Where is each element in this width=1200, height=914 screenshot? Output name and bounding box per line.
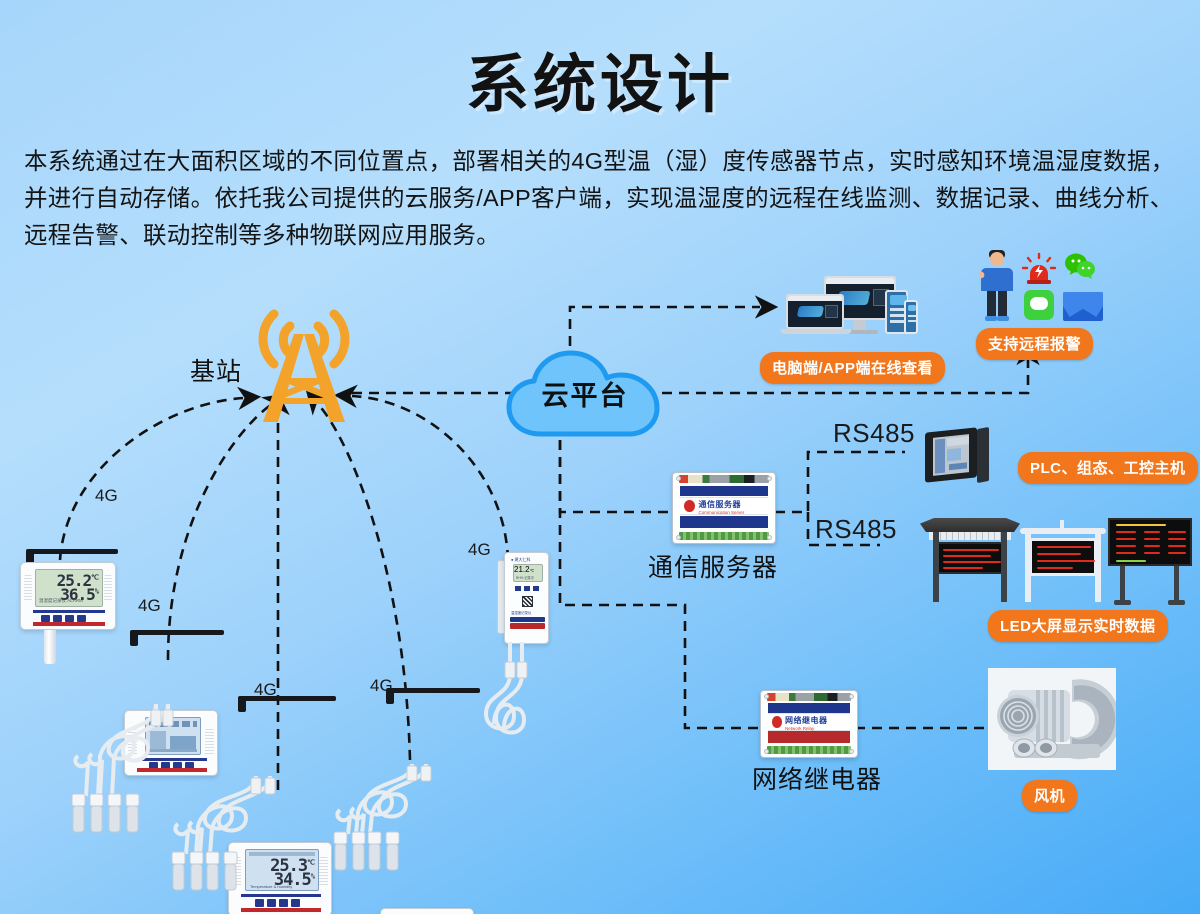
cloud-platform-label: 云平台: [505, 374, 665, 413]
link-label-4g-5: 4G: [468, 540, 491, 560]
badge-fan[interactable]: 风机: [1022, 780, 1077, 812]
sensor-a-antenna: [28, 549, 118, 554]
badge-plc[interactable]: PLC、组态、工控主机: [1018, 452, 1198, 484]
plc-hmi-device: [925, 428, 993, 484]
sensor-b-antenna-base: [130, 630, 138, 646]
page-title: 系统设计: [0, 34, 1200, 125]
sensor-a-probe: [44, 630, 56, 664]
mail-icon: [1063, 292, 1103, 321]
comm-server-label: 通信服务器: [648, 548, 778, 584]
qr-code-icon: [522, 596, 533, 607]
sensor-e-temp: 21.2℃: [514, 565, 542, 574]
sensor-d: 25.3℃ 34.5%: [380, 908, 474, 914]
sensor-e: ● 建大仁科 21.2℃ RH% 记录中 温湿度记录仪: [497, 552, 549, 652]
sms-icon: [1024, 290, 1054, 320]
link-label-4g-4: 4G: [370, 676, 393, 696]
led-billboard-monitor: [1108, 518, 1192, 606]
cloud-platform[interactable]: 云平台: [505, 348, 665, 440]
base-station-label: 基站: [190, 352, 242, 388]
sensor-e-probe-cables: [480, 640, 570, 770]
sensor-d-antenna: [388, 688, 480, 693]
sensor-b-antenna: [132, 630, 224, 635]
sensor-a: 25.2℃ 36.5% 温湿度记录仪 ALARM: [20, 562, 116, 630]
rs485-label-1: RS485: [833, 418, 915, 449]
link-label-4g-1: 4G: [95, 486, 118, 506]
sensor-c-antenna-base: [238, 696, 246, 712]
remote-alarm-group: [975, 248, 1095, 328]
communication-server-device: 通信服务器Communication Server: [672, 472, 776, 544]
siren-icon: [1021, 252, 1055, 282]
network-relay-label: 网络继电器: [752, 760, 882, 796]
wechat-icon: [1065, 252, 1095, 285]
sensor-c-probe-cables: [148, 772, 328, 902]
sensor-d-probe-cables: [316, 760, 486, 880]
led-billboard-pavilion: [920, 518, 1020, 604]
link-label-4g-3: 4G: [254, 680, 277, 700]
rs485-label-2: RS485: [815, 514, 897, 545]
led-billboard-frame: [1020, 520, 1106, 604]
network-relay-device: 网络继电器Network Relay: [760, 690, 858, 758]
base-station-tower: [244, 300, 364, 425]
badge-pc-app[interactable]: 电脑端/APP端在线查看: [760, 352, 945, 384]
fan-device: [988, 668, 1116, 770]
intro-paragraph: 本系统通过在大面积区域的不同位置点，部署相关的4G型温（湿）度传感器节点，实时感…: [24, 143, 1182, 254]
pc-app-devices: [786, 276, 916, 340]
badge-remote-alarm[interactable]: 支持远程报警: [976, 328, 1093, 360]
diagram-canvas: 系统设计 本系统通过在大面积区域的不同位置点，部署相关的4G型温（湿）度传感器节…: [0, 0, 1200, 914]
link-label-4g-2: 4G: [138, 596, 161, 616]
badge-led-screen[interactable]: LED大屏显示实时数据: [988, 610, 1168, 642]
